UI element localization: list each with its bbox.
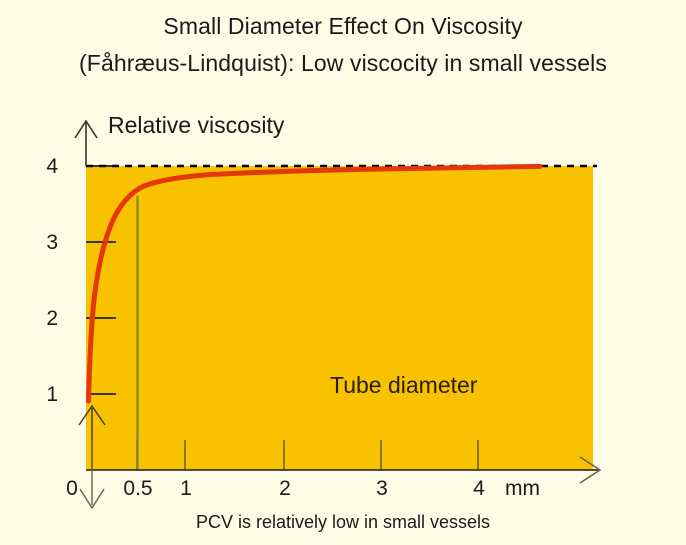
x-axis-unit-label: mm — [505, 477, 540, 501]
x-tick-label-0-5: 0.5 — [113, 477, 163, 501]
x-tick-label-1: 1 — [172, 477, 200, 501]
y-tick-label-2: 2 — [28, 307, 58, 331]
plot-annotation-tube-diameter: Tube diameter — [330, 372, 477, 399]
viscosity-chart: Relative viscosity Tube diameter 1 2 3 4… — [0, 0, 686, 545]
x-tick-label-2: 2 — [271, 477, 299, 501]
y-tick-label-4: 4 — [28, 155, 58, 179]
chart-vector-layer — [0, 0, 686, 545]
y-tick-label-1: 1 — [28, 383, 58, 407]
x-tick-label-3: 3 — [368, 477, 396, 501]
y-tick-label-3: 3 — [28, 231, 58, 255]
y-axis-title: Relative viscosity — [108, 112, 284, 139]
x-tick-label-4: 4 — [465, 477, 493, 501]
slide-caption: PCV is relatively low in small vessels — [0, 512, 686, 533]
area-fill — [86, 166, 593, 470]
slide-canvas: Small Diameter Effect On Viscosity (Fåhr… — [0, 0, 686, 545]
x-tick-label-0: 0 — [58, 477, 86, 501]
